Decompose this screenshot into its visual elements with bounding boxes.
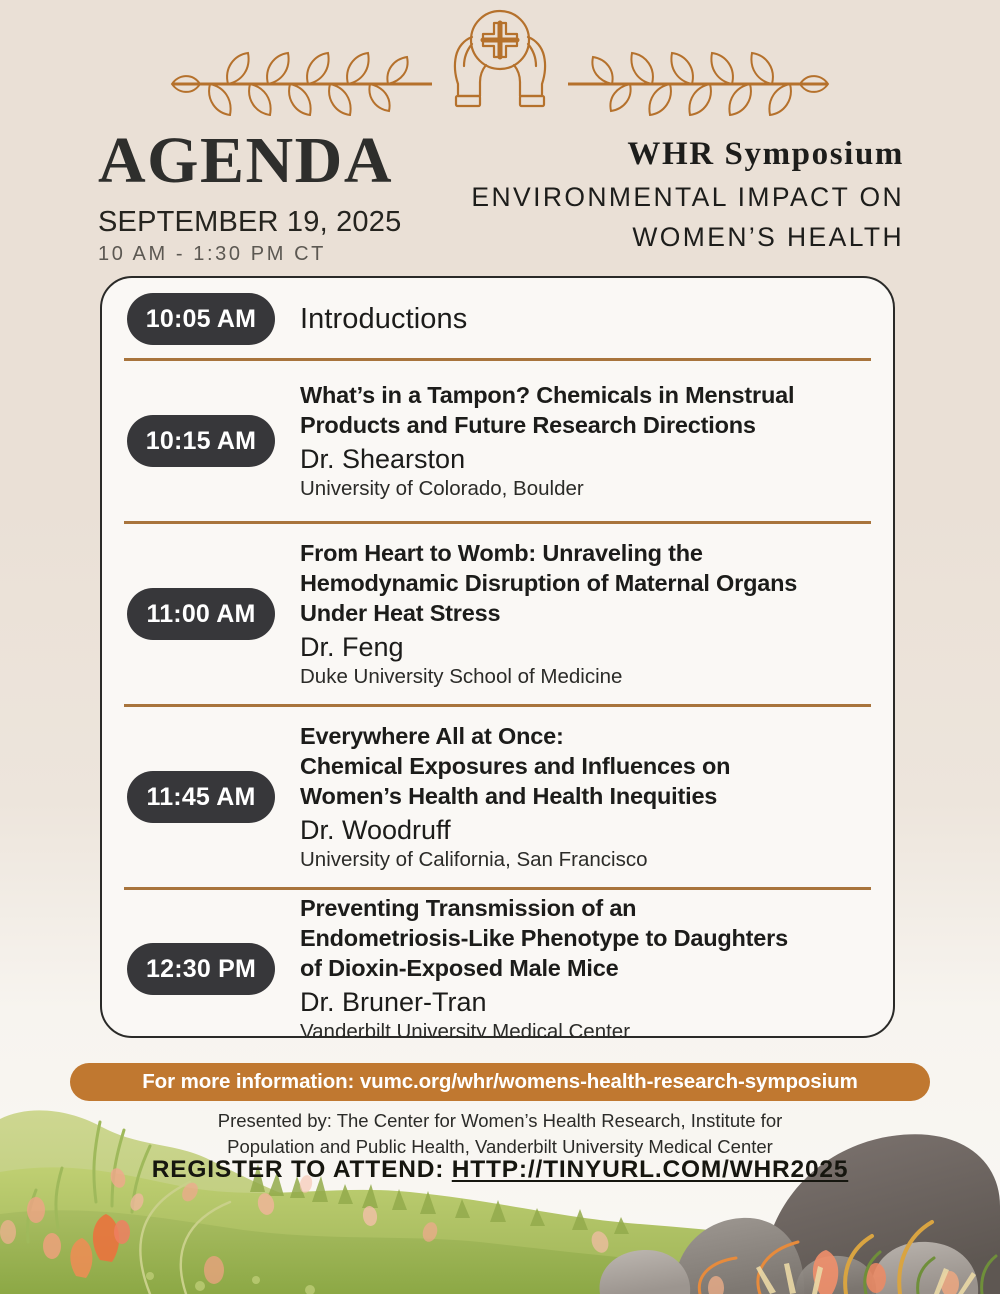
session-details: From Heart to Womb: Unraveling the Hemod… — [300, 538, 893, 690]
hill-mid — [0, 1167, 1000, 1294]
session-affiliation: Vanderbilt University Medical Center — [300, 1020, 877, 1038]
symposium-title: WHR Symposium — [471, 136, 904, 173]
symposium-subtitle-line1: ENVIRONMENTAL IMPACT ON — [471, 182, 904, 213]
agenda-row: 10:15 AM What’s in a Tampon? Chemicals i… — [102, 361, 893, 521]
wildflowers-right — [708, 1250, 959, 1294]
register-label: REGISTER TO ATTEND: — [152, 1156, 452, 1183]
page-title: AGENDA — [98, 128, 401, 194]
session-details: Everywhere All at Once: Chemical Exposur… — [300, 721, 893, 873]
golden-stalks-right — [845, 1222, 932, 1294]
session-time-badge: 12:30 PM — [127, 943, 275, 995]
presented-by-text: Presented by: The Center for Women’s Hea… — [0, 1108, 1000, 1159]
poster-header: AGENDA SEPTEMBER 19, 2025 10 AM - 1:30 P… — [0, 118, 1000, 263]
green-blades-right — [865, 1252, 996, 1294]
seed-dots — [146, 1272, 315, 1294]
session-time-badge: 10:05 AM — [127, 293, 275, 345]
agenda-card: 10:05 AM Introductions 10:15 AM What’s i… — [100, 276, 895, 1038]
session-details: Preventing Transmission of an Endometrio… — [300, 893, 893, 1038]
poster-canvas: AGENDA SEPTEMBER 19, 2025 10 AM - 1:30 P… — [0, 0, 1000, 1294]
session-time-badge: 10:15 AM — [127, 415, 275, 467]
session-title: Introductions — [300, 303, 877, 336]
time-pill-wrapper: 11:00 AM — [127, 588, 300, 640]
session-title-line: What’s in a Tampon? Chemicals in Menstru… — [300, 380, 877, 410]
session-details: What’s in a Tampon? Chemicals in Menstru… — [300, 380, 893, 502]
more-information-banner[interactable]: For more information: vumc.org/whr/women… — [70, 1063, 930, 1101]
register-line: REGISTER TO ATTEND: HTTP://TINYURL.COM/W… — [0, 1156, 1000, 1184]
header-ornament — [0, 4, 1000, 116]
session-time-badge: 11:45 AM — [127, 771, 275, 823]
wheat-sprays — [756, 1263, 976, 1294]
session-time-badge: 11:00 AM — [127, 588, 275, 640]
register-url-link[interactable]: HTTP://TINYURL.COM/WHR2025 — [452, 1156, 848, 1183]
event-date: SEPTEMBER 19, 2025 — [98, 206, 401, 239]
reed-arcs — [140, 1182, 230, 1294]
time-pill-wrapper: 11:45 AM — [127, 771, 300, 823]
agenda-row: 12:30 PM Preventing Transmission of an E… — [102, 890, 893, 1038]
agenda-row: 11:00 AM From Heart to Womb: Unraveling … — [102, 524, 893, 704]
session-speaker: Dr. Shearston — [300, 444, 877, 476]
session-title-line: Chemical Exposures and Influences on — [300, 751, 877, 781]
session-title-line: Under Heat Stress — [300, 598, 877, 628]
agenda-row: 11:45 AM Everywhere All at Once: Chemica… — [102, 707, 893, 887]
session-title-line: From Heart to Womb: Unraveling the — [300, 538, 877, 568]
hill-front — [0, 1210, 1000, 1294]
event-time-range: 10 AM - 1:30 PM CT — [98, 243, 401, 266]
session-title-line: Products and Future Research Directions — [300, 410, 877, 440]
session-title-line: Endometriosis-Like Phenotype to Daughter… — [300, 923, 877, 953]
presented-by-line1: Presented by: The Center for Women’s Hea… — [0, 1108, 1000, 1134]
session-speaker: Dr. Feng — [300, 632, 877, 664]
session-title-line: Women’s Health and Health Inequities — [300, 781, 877, 811]
session-title-line: Hemodynamic Disruption of Maternal Organ… — [300, 568, 877, 598]
session-title-line: of Dioxin-Exposed Male Mice — [300, 953, 877, 983]
session-title-line: Everywhere All at Once: — [300, 721, 877, 751]
agenda-row: 10:05 AM Introductions — [102, 280, 893, 358]
laurel-branch-divider — [172, 53, 828, 115]
agenda-heading-block: AGENDA SEPTEMBER 19, 2025 10 AM - 1:30 P… — [98, 128, 401, 266]
session-affiliation: University of Colorado, Boulder — [300, 477, 877, 502]
orange-stalks-right — [699, 1242, 798, 1294]
time-pill-wrapper: 10:15 AM — [127, 415, 300, 467]
session-affiliation: Duke University School of Medicine — [300, 665, 877, 690]
session-affiliation: University of California, San Francisco — [300, 848, 877, 873]
session-speaker: Dr. Woodruff — [300, 815, 877, 847]
time-pill-wrapper: 10:05 AM — [127, 293, 300, 345]
session-speaker: Dr. Bruner-Tran — [300, 987, 877, 1019]
symposium-subtitle-line2: WOMEN’S HEALTH — [471, 222, 904, 253]
session-title-line: Preventing Transmission of an — [300, 893, 877, 923]
symposium-heading-block: WHR Symposium ENVIRONMENTAL IMPACT ON WO… — [471, 136, 904, 253]
wildflowers-left — [0, 1197, 224, 1284]
time-pill-wrapper: 12:30 PM — [127, 943, 300, 995]
hands-holding-medical-cross-icon — [150, 4, 850, 116]
session-details: Introductions — [300, 303, 893, 336]
